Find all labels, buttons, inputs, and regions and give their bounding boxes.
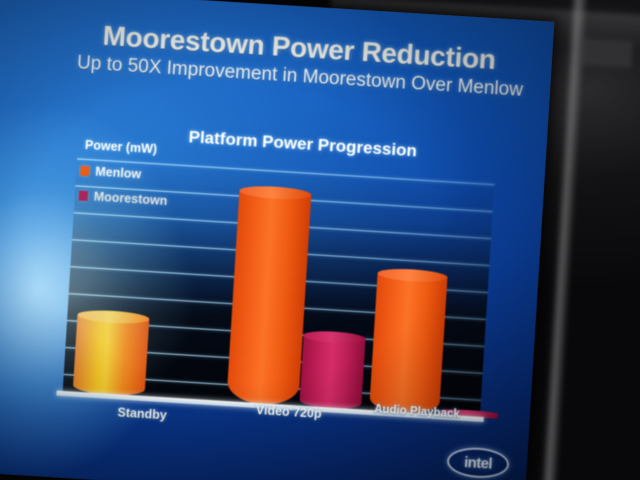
y-axis-label: Power (mW) (85, 138, 158, 156)
bar-body (73, 315, 150, 397)
bar-moorestown-video720p (299, 335, 365, 411)
chart-title: Platform Power Progression (188, 127, 417, 161)
chart-plot-area (63, 158, 495, 417)
bar-menlow-video720p (226, 190, 311, 406)
photographed-slide-screenshot: Moorestown Power Reduction Up to 50X Imp… (0, 0, 640, 480)
category-label-video720p: Video 720p (255, 403, 322, 421)
intel-logo: intel (446, 446, 510, 480)
intel-logo-wordmark: intel (446, 446, 510, 480)
bar-body (299, 335, 365, 411)
category-label-standby: Standby (117, 405, 167, 422)
monitor-bezel-notch (581, 39, 632, 68)
bar-body (226, 190, 311, 406)
bar-menlow-audio-playback (369, 273, 447, 415)
slide-screen: Moorestown Power Reduction Up to 50X Imp… (0, 0, 555, 480)
slide-background: Moorestown Power Reduction Up to 50X Imp… (0, 0, 555, 480)
bar-body (369, 273, 447, 415)
bar-menlow-standby (73, 315, 150, 397)
